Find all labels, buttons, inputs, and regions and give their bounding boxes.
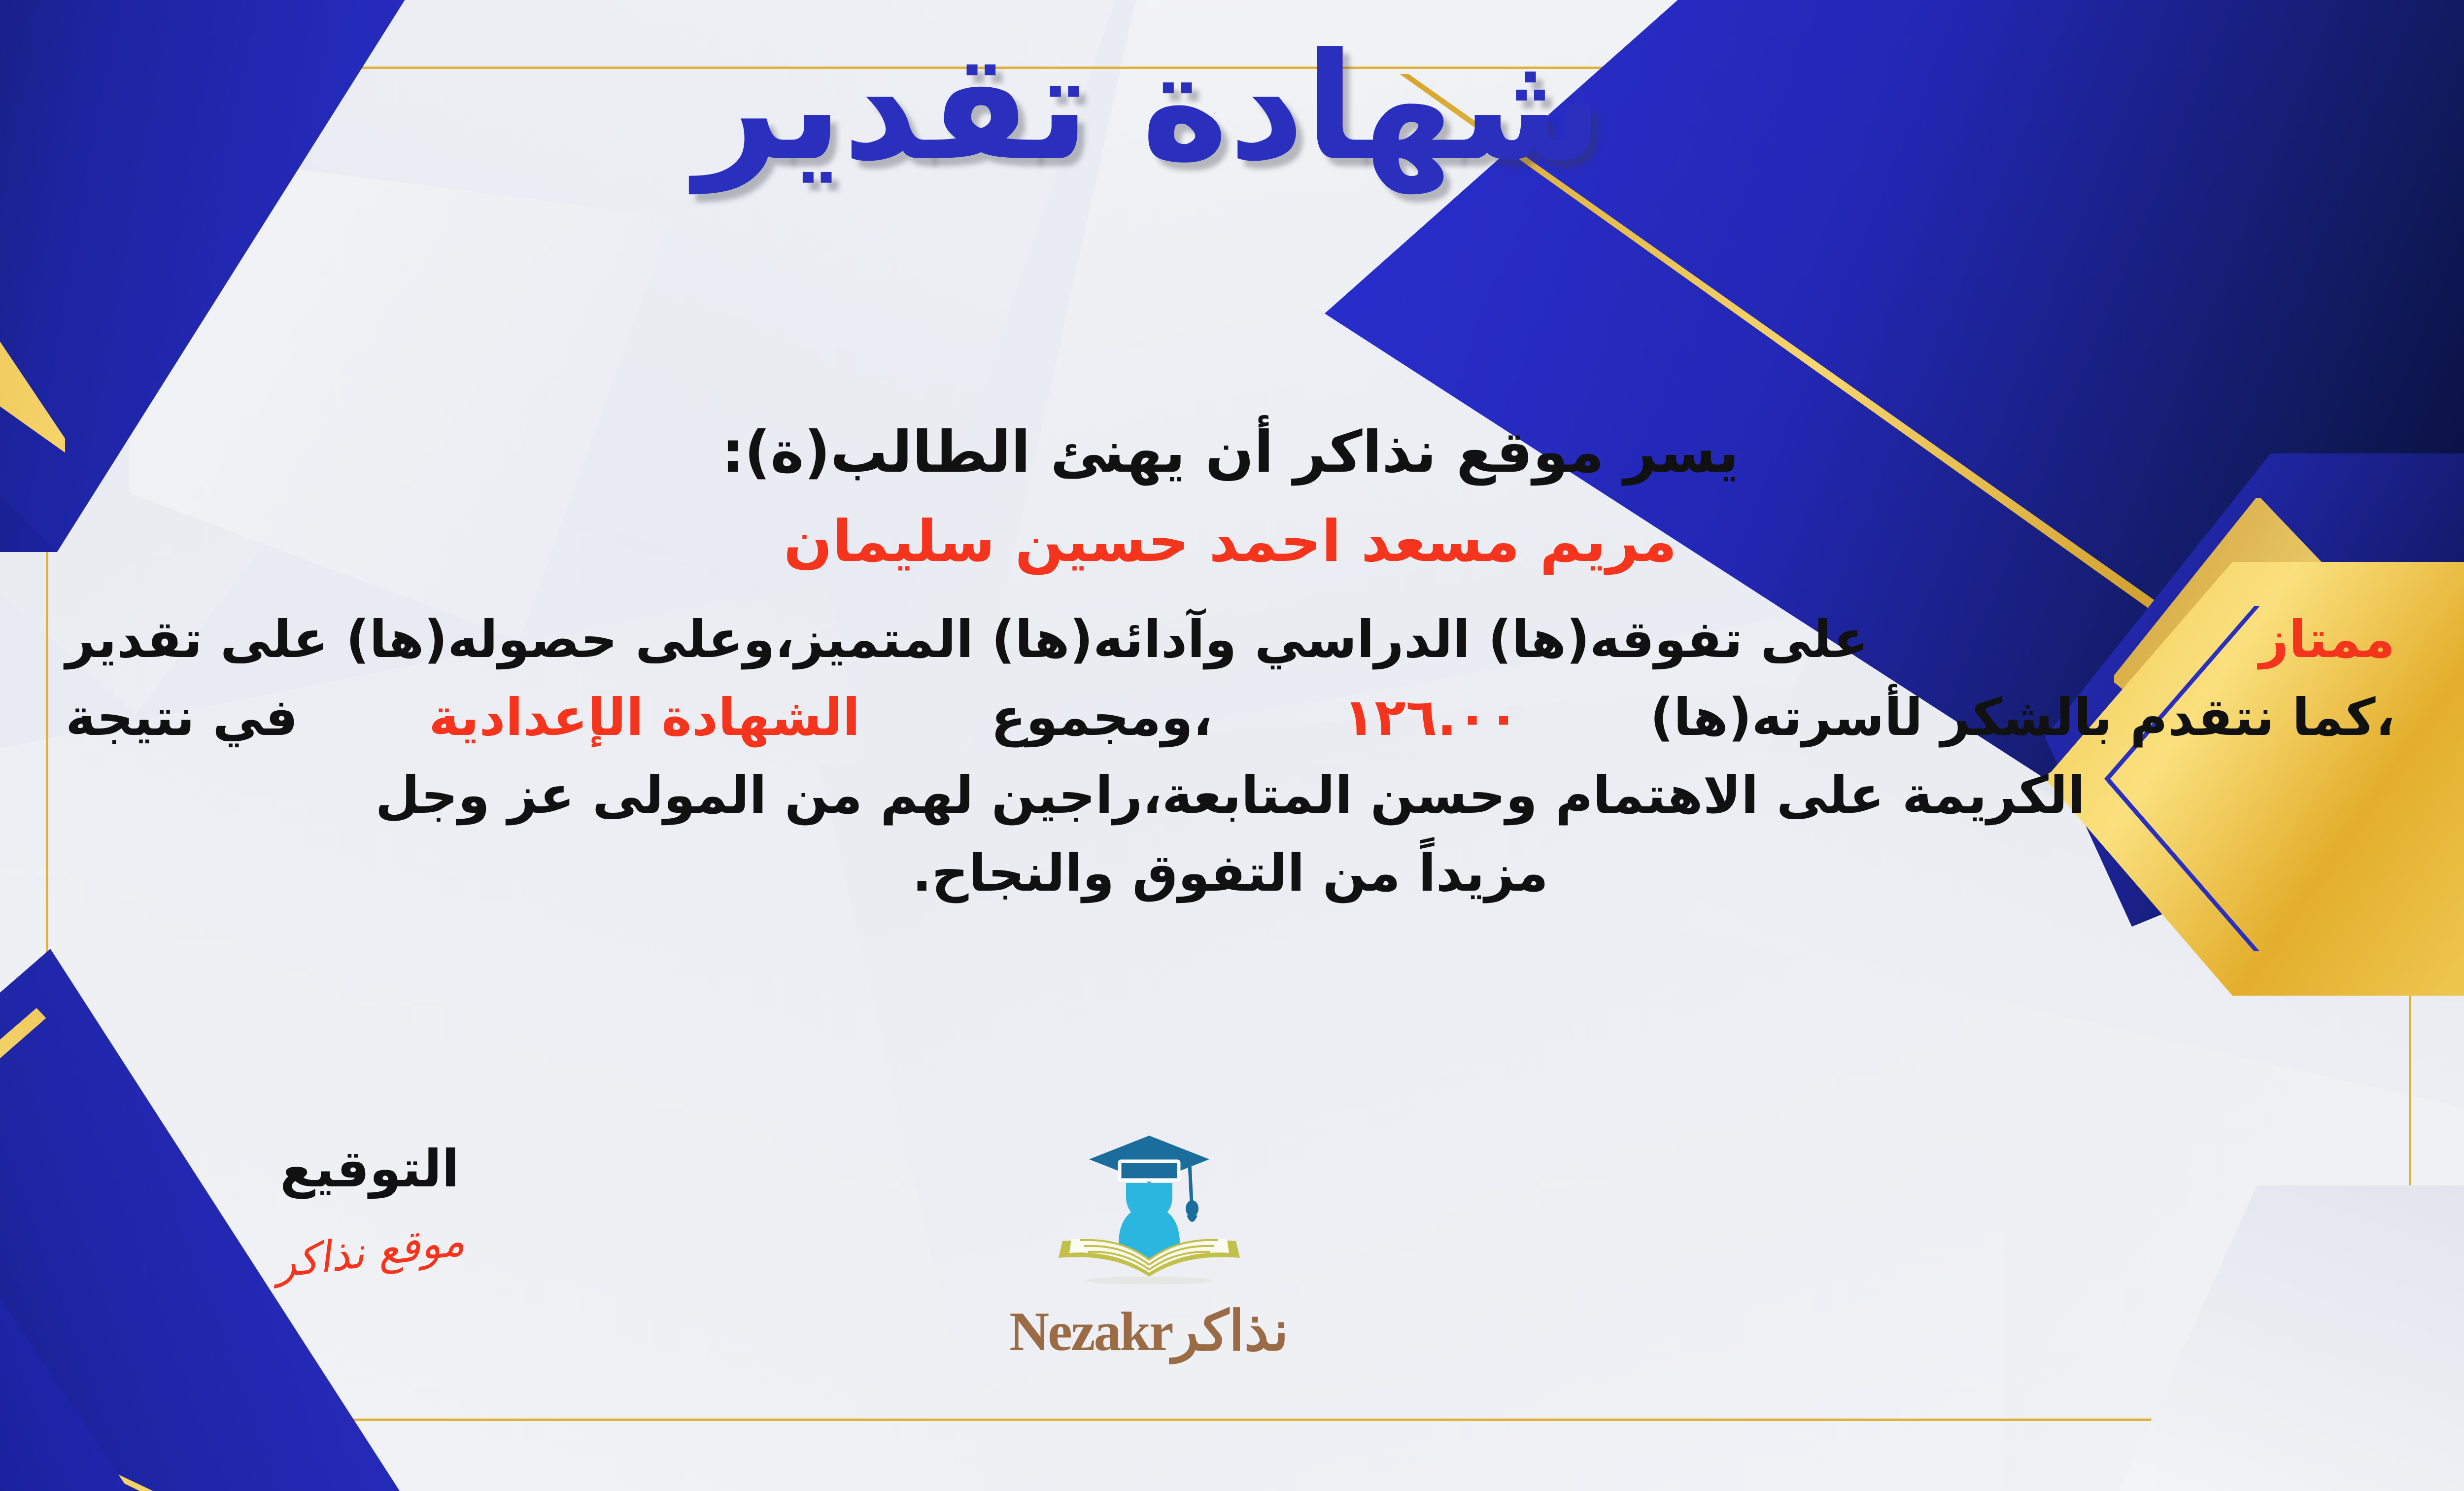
certificate-title: شهادة تقدير	[0, 30, 2464, 185]
student-name: مريم مسعد احمد حسين سليمان	[46, 508, 2415, 575]
body-line-4: مزيداً من التفوق والنجاح.	[66, 834, 2395, 912]
grade-value: ممتاز	[2259, 600, 2396, 678]
logo-wordmark-arabic: نذاكر	[1172, 1301, 1289, 1362]
logo-graphic	[1046, 1129, 1253, 1296]
signature-label: التوقيع	[197, 1139, 542, 1199]
signature-block: التوقيع موقع نذاكر	[197, 1139, 542, 1277]
body-line-3: الكريمة على الاهتمام وحسن المتابعة،راجين…	[66, 756, 2395, 834]
body-line-2-prefix: في نتيجة	[66, 678, 298, 756]
body-line-2-suffix: ،كما نتقدم بالشكر لأسرته(ها)	[1650, 678, 2395, 756]
body-line-1-text: على تفوقه(ها) الدراسي وآدائه(ها) المتميز…	[66, 600, 1868, 678]
signature-handwritten: موقع نذاكر	[272, 1216, 467, 1288]
nezakr-logo: نذاكرNezakr	[962, 1129, 1336, 1364]
body-line-2: ،كما نتقدم بالشكر لأسرته(ها) ١٢٦.٠٠ ،ومج…	[66, 678, 2395, 756]
greeting-line: يسر موقع نذاكر أن يهنئ الطالب(ة):	[46, 414, 2415, 491]
body-line-2-middle: ،ومجموع	[991, 678, 1212, 756]
logo-wordmark: نذاكرNezakr	[962, 1299, 1336, 1364]
certificate-canvas: شهادة تقدير يسر موقع نذاكر أن يهنئ الطال…	[0, 0, 2464, 1491]
certificate-body: يسر موقع نذاكر أن يهنئ الطالب(ة): مريم م…	[46, 414, 2415, 912]
logo-wordmark-latin: Nezakr	[1009, 1301, 1172, 1362]
exam-name: الشهادة الإعدادية	[429, 678, 860, 756]
certificate-content: شهادة تقدير يسر موقع نذاكر أن يهنئ الطال…	[0, 0, 2464, 1491]
body-line-1: ممتاز على تفوقه(ها) الدراسي وآدائه(ها) ا…	[66, 600, 2395, 678]
body-paragraph: ممتاز على تفوقه(ها) الدراسي وآدائه(ها) ا…	[46, 600, 2415, 912]
score-value: ١٢٦.٠٠	[1343, 678, 1519, 756]
